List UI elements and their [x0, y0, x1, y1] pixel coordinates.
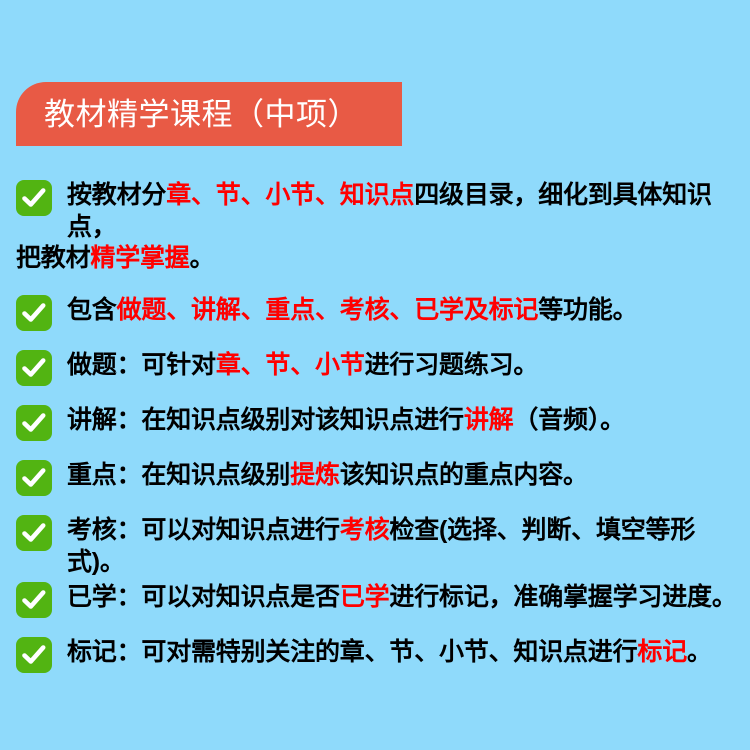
list-item-text: 按教材分章、节、小节、知识点四级目录，细化到具体知识点， — [67, 176, 744, 243]
feature-list: 按教材分章、节、小节、知识点四级目录，细化到具体知识点，把教材精学掌握。包含做题… — [0, 176, 750, 688]
text-segment: 讲解：在知识点级别对该知识点进行 — [67, 406, 464, 434]
text-segment: 。 — [687, 638, 712, 666]
list-item-text: 标记：可对需特别关注的章、节、小节、知识点进行标记。 — [67, 633, 744, 669]
list-item: 讲解：在知识点级别对该知识点进行讲解（音频）。 — [0, 401, 750, 456]
highlighted-keyword: 讲解 — [464, 406, 514, 434]
list-item-text: 讲解：在知识点级别对该知识点进行讲解（音频）。 — [67, 401, 744, 437]
text-segment: 包含 — [67, 296, 117, 324]
highlighted-keyword: 精学掌握 — [90, 244, 189, 272]
highlighted-keyword: 提炼 — [290, 461, 340, 489]
list-item: 标记：可对需特别关注的章、节、小节、知识点进行标记。 — [0, 633, 750, 688]
check-mark-icon — [16, 460, 52, 496]
text-segment: 考核：可以对知识点进行 — [67, 516, 340, 544]
list-item-text: 做题：可针对章、节、小节进行习题练习。 — [67, 346, 744, 382]
list-item-text: 考核：可以对知识点进行考核检查(选择、判断、填空等形式)。 — [67, 511, 744, 578]
highlighted-keyword: 章、节、小节、知识点 — [166, 181, 414, 209]
highlighted-keyword: 标记 — [637, 638, 687, 666]
highlighted-keyword: 已学 — [340, 583, 390, 611]
text-segment: 按教材分 — [67, 181, 166, 209]
highlighted-keyword: 考核 — [340, 516, 390, 544]
text-segment: （音频）。 — [513, 406, 625, 434]
list-item-continuation: 把教材精学掌握。 — [0, 243, 750, 291]
list-item-continuation-text: 把教材精学掌握。 — [16, 243, 214, 275]
text-segment: 。 — [190, 244, 215, 272]
text-segment: 做题：可针对 — [67, 351, 216, 379]
text-segment: 已学：可以对知识点是否 — [67, 583, 340, 611]
list-item-text: 包含做题、讲解、重点、考核、已学及标记等功能。 — [67, 291, 744, 327]
list-item: 重点：在知识点级别提炼该知识点的重点内容。 — [0, 456, 750, 511]
page-title: 教材精学课程（中项） — [44, 99, 359, 130]
list-item: 已学：可以对知识点是否已学进行标记，准确掌握学习进度。 — [0, 578, 750, 633]
highlighted-keyword: 章、节、小节 — [216, 351, 365, 379]
check-mark-icon — [16, 405, 52, 441]
text-segment: 等功能。 — [538, 296, 637, 324]
check-mark-icon — [16, 295, 52, 331]
check-mark-icon — [16, 515, 52, 551]
list-item: 做题：可针对章、节、小节进行习题练习。 — [0, 346, 750, 401]
list-item: 按教材分章、节、小节、知识点四级目录，细化到具体知识点， — [0, 176, 750, 243]
list-item: 包含做题、讲解、重点、考核、已学及标记等功能。 — [0, 291, 750, 346]
check-mark-icon — [16, 582, 52, 618]
check-mark-icon — [16, 637, 52, 673]
text-segment: 进行标记，准确掌握学习进度。 — [389, 583, 736, 611]
text-segment: 把教材 — [16, 244, 90, 272]
list-item: 考核：可以对知识点进行考核检查(选择、判断、填空等形式)。 — [0, 511, 750, 578]
text-segment: 进行习题练习。 — [365, 351, 539, 379]
text-segment: 重点：在知识点级别 — [67, 461, 290, 489]
list-item-text: 重点：在知识点级别提炼该知识点的重点内容。 — [67, 456, 744, 492]
title-banner: 教材精学课程（中项） — [16, 82, 402, 146]
text-segment: 该知识点的重点内容。 — [340, 461, 588, 489]
list-item-text: 已学：可以对知识点是否已学进行标记，准确掌握学习进度。 — [67, 578, 744, 614]
text-segment: 标记：可对需特别关注的章、节、小节、知识点进行 — [67, 638, 637, 666]
check-mark-icon — [16, 350, 52, 386]
highlighted-keyword: 做题、讲解、重点、考核、已学及标记 — [117, 296, 539, 324]
check-mark-icon — [16, 180, 52, 216]
promo-poster: 教材精学课程（中项） 按教材分章、节、小节、知识点四级目录，细化到具体知识点，把… — [0, 0, 750, 750]
